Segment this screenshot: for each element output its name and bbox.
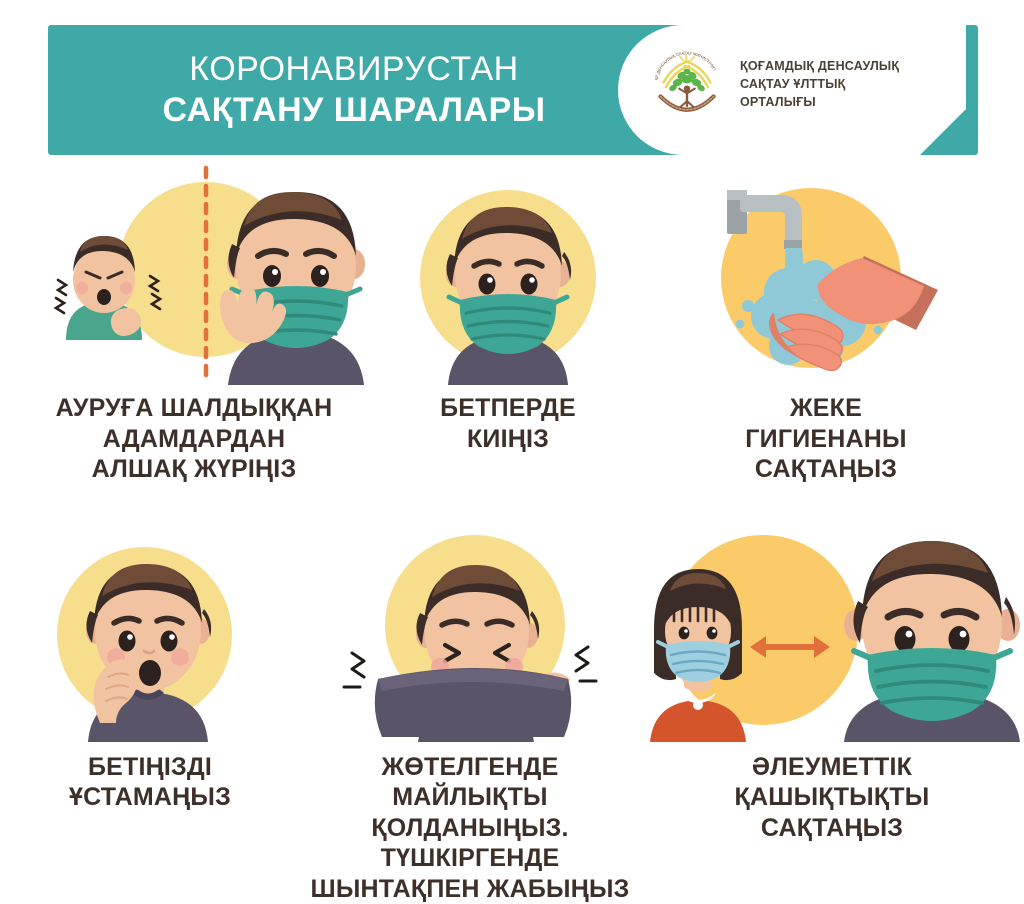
card-caption: БЕТПЕРДЕ КИІҢІЗ: [388, 393, 628, 454]
card-cover-cough-and-sneeze: ЖӨТЕЛГЕНДЕ МАЙЛЫҚТЫ ҚОЛДАНЫҢЫЗ. ТҮШКІРГЕ…: [300, 527, 640, 904]
brand-line-1: ҚОҒАМДЫҚ ДЕНСАУЛЫҚ: [740, 57, 899, 75]
measures-row-bottom: БЕТІҢІЗДІ ҰСТАМАҢЫЗ: [0, 527, 1024, 904]
page-title: КОРОНАВИРУСТАН САҚТАНУ ШАРАЛАРЫ: [48, 25, 660, 155]
card-wear-a-mask: БЕТПЕРДЕ КИІҢІЗ: [388, 160, 628, 485]
organization-brand: ҚР ДЕНСАУЛЫҚ САҚТАУ МИНИСТРЛІГІ: [648, 45, 948, 123]
hand-washing-faucet-icon: [628, 160, 1024, 385]
card-caption: ЖЕКЕ ГИГИЕНАНЫ САҚТАҢЫЗ: [628, 393, 1024, 485]
measures-row-top: АУРУҒА ШАЛДЫҚҚАН АДАМДАРДАН АЛШАҚ ЖҮРІҢІ…: [0, 160, 1024, 485]
card-caption: БЕТІҢІЗДІ ҰСТАМАҢЫЗ: [0, 752, 300, 813]
header-banner: КОРОНАВИРУСТАН САҚТАНУ ШАРАЛАРЫ ҚР ДЕНСА…: [48, 25, 978, 155]
public-health-center-logo-icon: ҚР ДЕНСАУЛЫҚ САҚТАУ МИНИСТРЛІГІ: [648, 45, 726, 123]
brand-line-2: САҚТАУ ҰЛТТЫҚ: [740, 75, 899, 93]
sick-person-and-masked-man-divider-icon: [0, 160, 388, 385]
hand-touching-face-icon: [0, 527, 300, 742]
title-line-1: КОРОНАВИРУСТАН: [189, 51, 518, 88]
card-do-not-touch-face: БЕТІҢІЗДІ ҰСТАМАҢЫЗ: [0, 527, 300, 904]
masked-man-icon: [388, 160, 628, 385]
card-caption: ӘЛЕУМЕТТІК ҚАШЫҚТЫҚТЫ САҚТАҢЫЗ: [640, 752, 1024, 844]
card-caption: ЖӨТЕЛГЕНДЕ МАЙЛЫҚТЫ ҚОЛДАНЫҢЫЗ. ТҮШКІРГЕ…: [300, 752, 640, 904]
card-caption: АУРУҒА ШАЛДЫҚҚАН АДАМДАРДАН АЛШАҚ ЖҮРІҢІ…: [0, 393, 388, 485]
card-keep-distance-from-sick: АУРУҒА ШАЛДЫҚҚАН АДАМДАРДАН АЛШАҚ ЖҮРІҢІ…: [0, 160, 388, 485]
card-personal-hygiene: ЖЕКЕ ГИГИЕНАНЫ САҚТАҢЫЗ: [628, 160, 1024, 485]
sneezing-into-cloth-icon: [300, 527, 640, 742]
card-social-distancing: ӘЛЕУМЕТТІК ҚАШЫҚТЫҚТЫ САҚТАҢЫЗ: [640, 527, 1024, 904]
two-masked-people-with-arrow-icon: [640, 527, 1024, 742]
organization-name: ҚОҒАМДЫҚ ДЕНСАУЛЫҚ САҚТАУ ҰЛТТЫҚ ОРТАЛЫҒ…: [740, 57, 899, 111]
title-line-2: САҚТАНУ ШАРАЛАРЫ: [162, 92, 545, 129]
brand-line-3: ОРТАЛЫҒЫ: [740, 93, 899, 111]
prevention-measures-grid: АУРУҒА ШАЛДЫҚҚАН АДАМДАРДАН АЛШАҚ ЖҮРІҢІ…: [0, 160, 1024, 904]
